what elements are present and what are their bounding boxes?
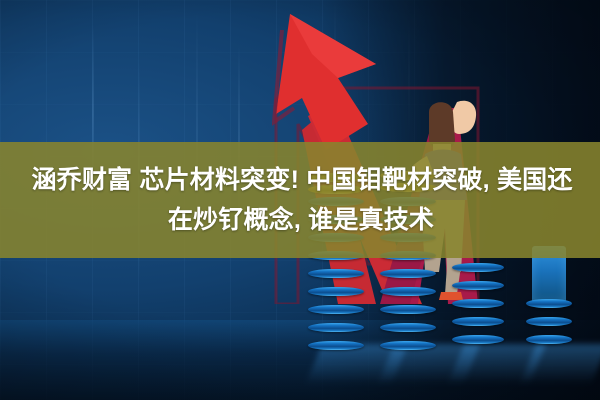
coin <box>308 305 364 314</box>
coin <box>308 287 364 296</box>
coin <box>308 341 364 350</box>
coin <box>452 335 504 344</box>
headline-text: 涵乔财富 芯片材料突变! 中国钼靶材突破, 美国还 在炒钌概念, 谁是真技术 <box>0 142 600 258</box>
coin <box>526 317 572 326</box>
coin <box>380 287 436 296</box>
coin <box>452 263 504 272</box>
headline-line-1: 涵乔财富 芯片材料突变! 中国钼靶材突破, 美国还 <box>27 160 572 200</box>
coin-stack-4 <box>526 245 572 350</box>
coin <box>452 281 504 290</box>
coin <box>452 317 504 326</box>
coin <box>380 323 436 332</box>
coin <box>380 305 436 314</box>
headline-line-2: 在炒钌概念, 谁是真技术 <box>166 200 434 240</box>
coin <box>308 323 364 332</box>
coin <box>308 269 364 278</box>
coin <box>526 299 572 308</box>
coin <box>526 335 572 344</box>
coin <box>380 341 436 350</box>
banner-image: 涵乔财富 芯片材料突变! 中国钼靶材突破, 美国还 在炒钌概念, 谁是真技术 <box>0 0 600 400</box>
coin <box>380 269 436 278</box>
coin <box>452 299 504 308</box>
coin-stack-3 <box>452 245 504 350</box>
